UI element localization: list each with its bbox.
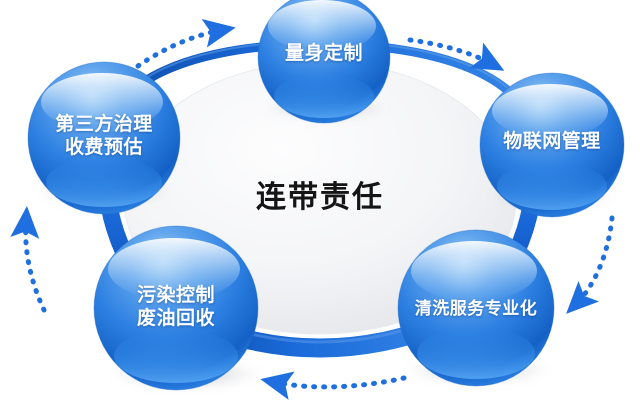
node-bottom-right-sphere[interactable] [398, 230, 554, 386]
arrow-bottom-left-to-left [26, 220, 44, 310]
arrow-bottom-right-to-bottom-left [274, 378, 404, 387]
node-bottom-left-sphere[interactable] [94, 226, 258, 390]
node-right-sphere[interactable] [480, 73, 624, 217]
diagram-canvas: 量身定制 物联网管理 清洗服务专业化 污染控制废油回收 第三方治理收费预估 连带… [0, 0, 640, 410]
arrow-right-to-bottom-right [576, 218, 612, 304]
center-title: 连带责任 [230, 172, 410, 216]
node-top-sphere[interactable] [258, 0, 390, 123]
node-left-sphere[interactable] [28, 62, 180, 214]
